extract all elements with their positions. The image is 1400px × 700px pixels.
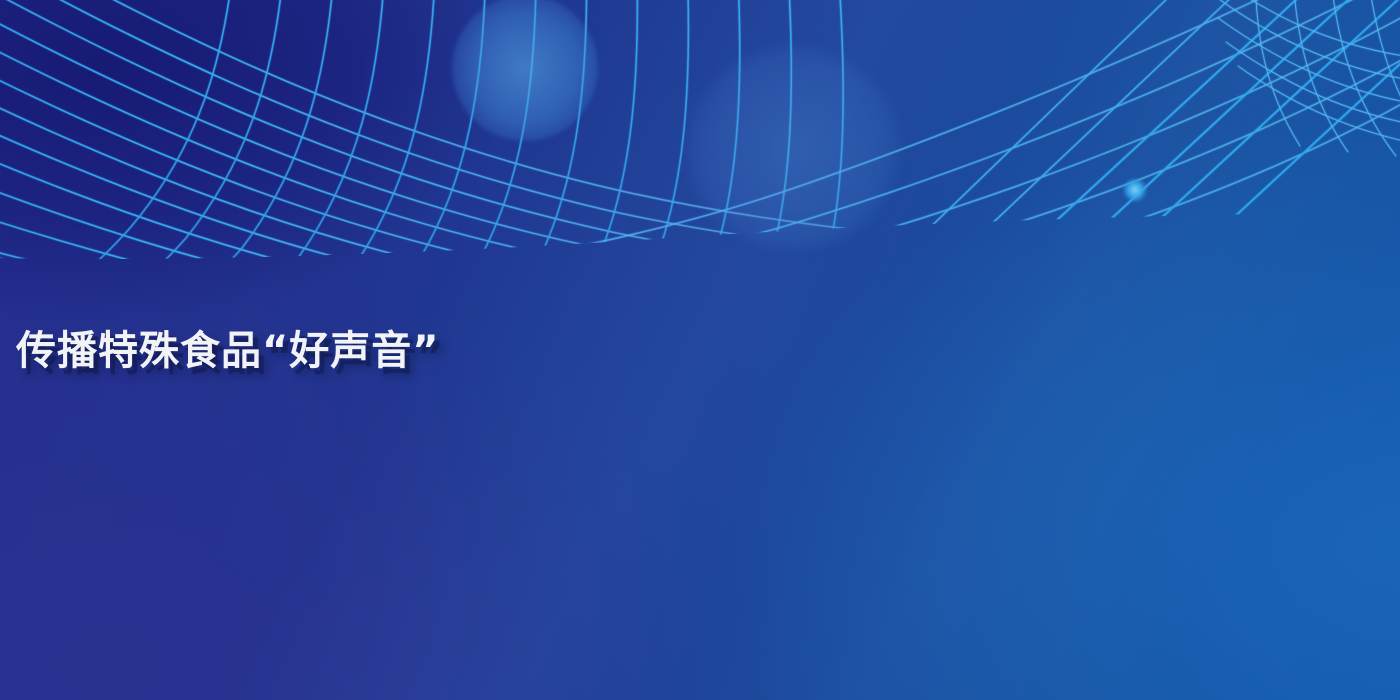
- banner-headline: 传播特殊食品“好声音”: [16, 276, 1394, 426]
- promotional-banner: 传播特殊食品“好声音”: [0, 0, 1400, 700]
